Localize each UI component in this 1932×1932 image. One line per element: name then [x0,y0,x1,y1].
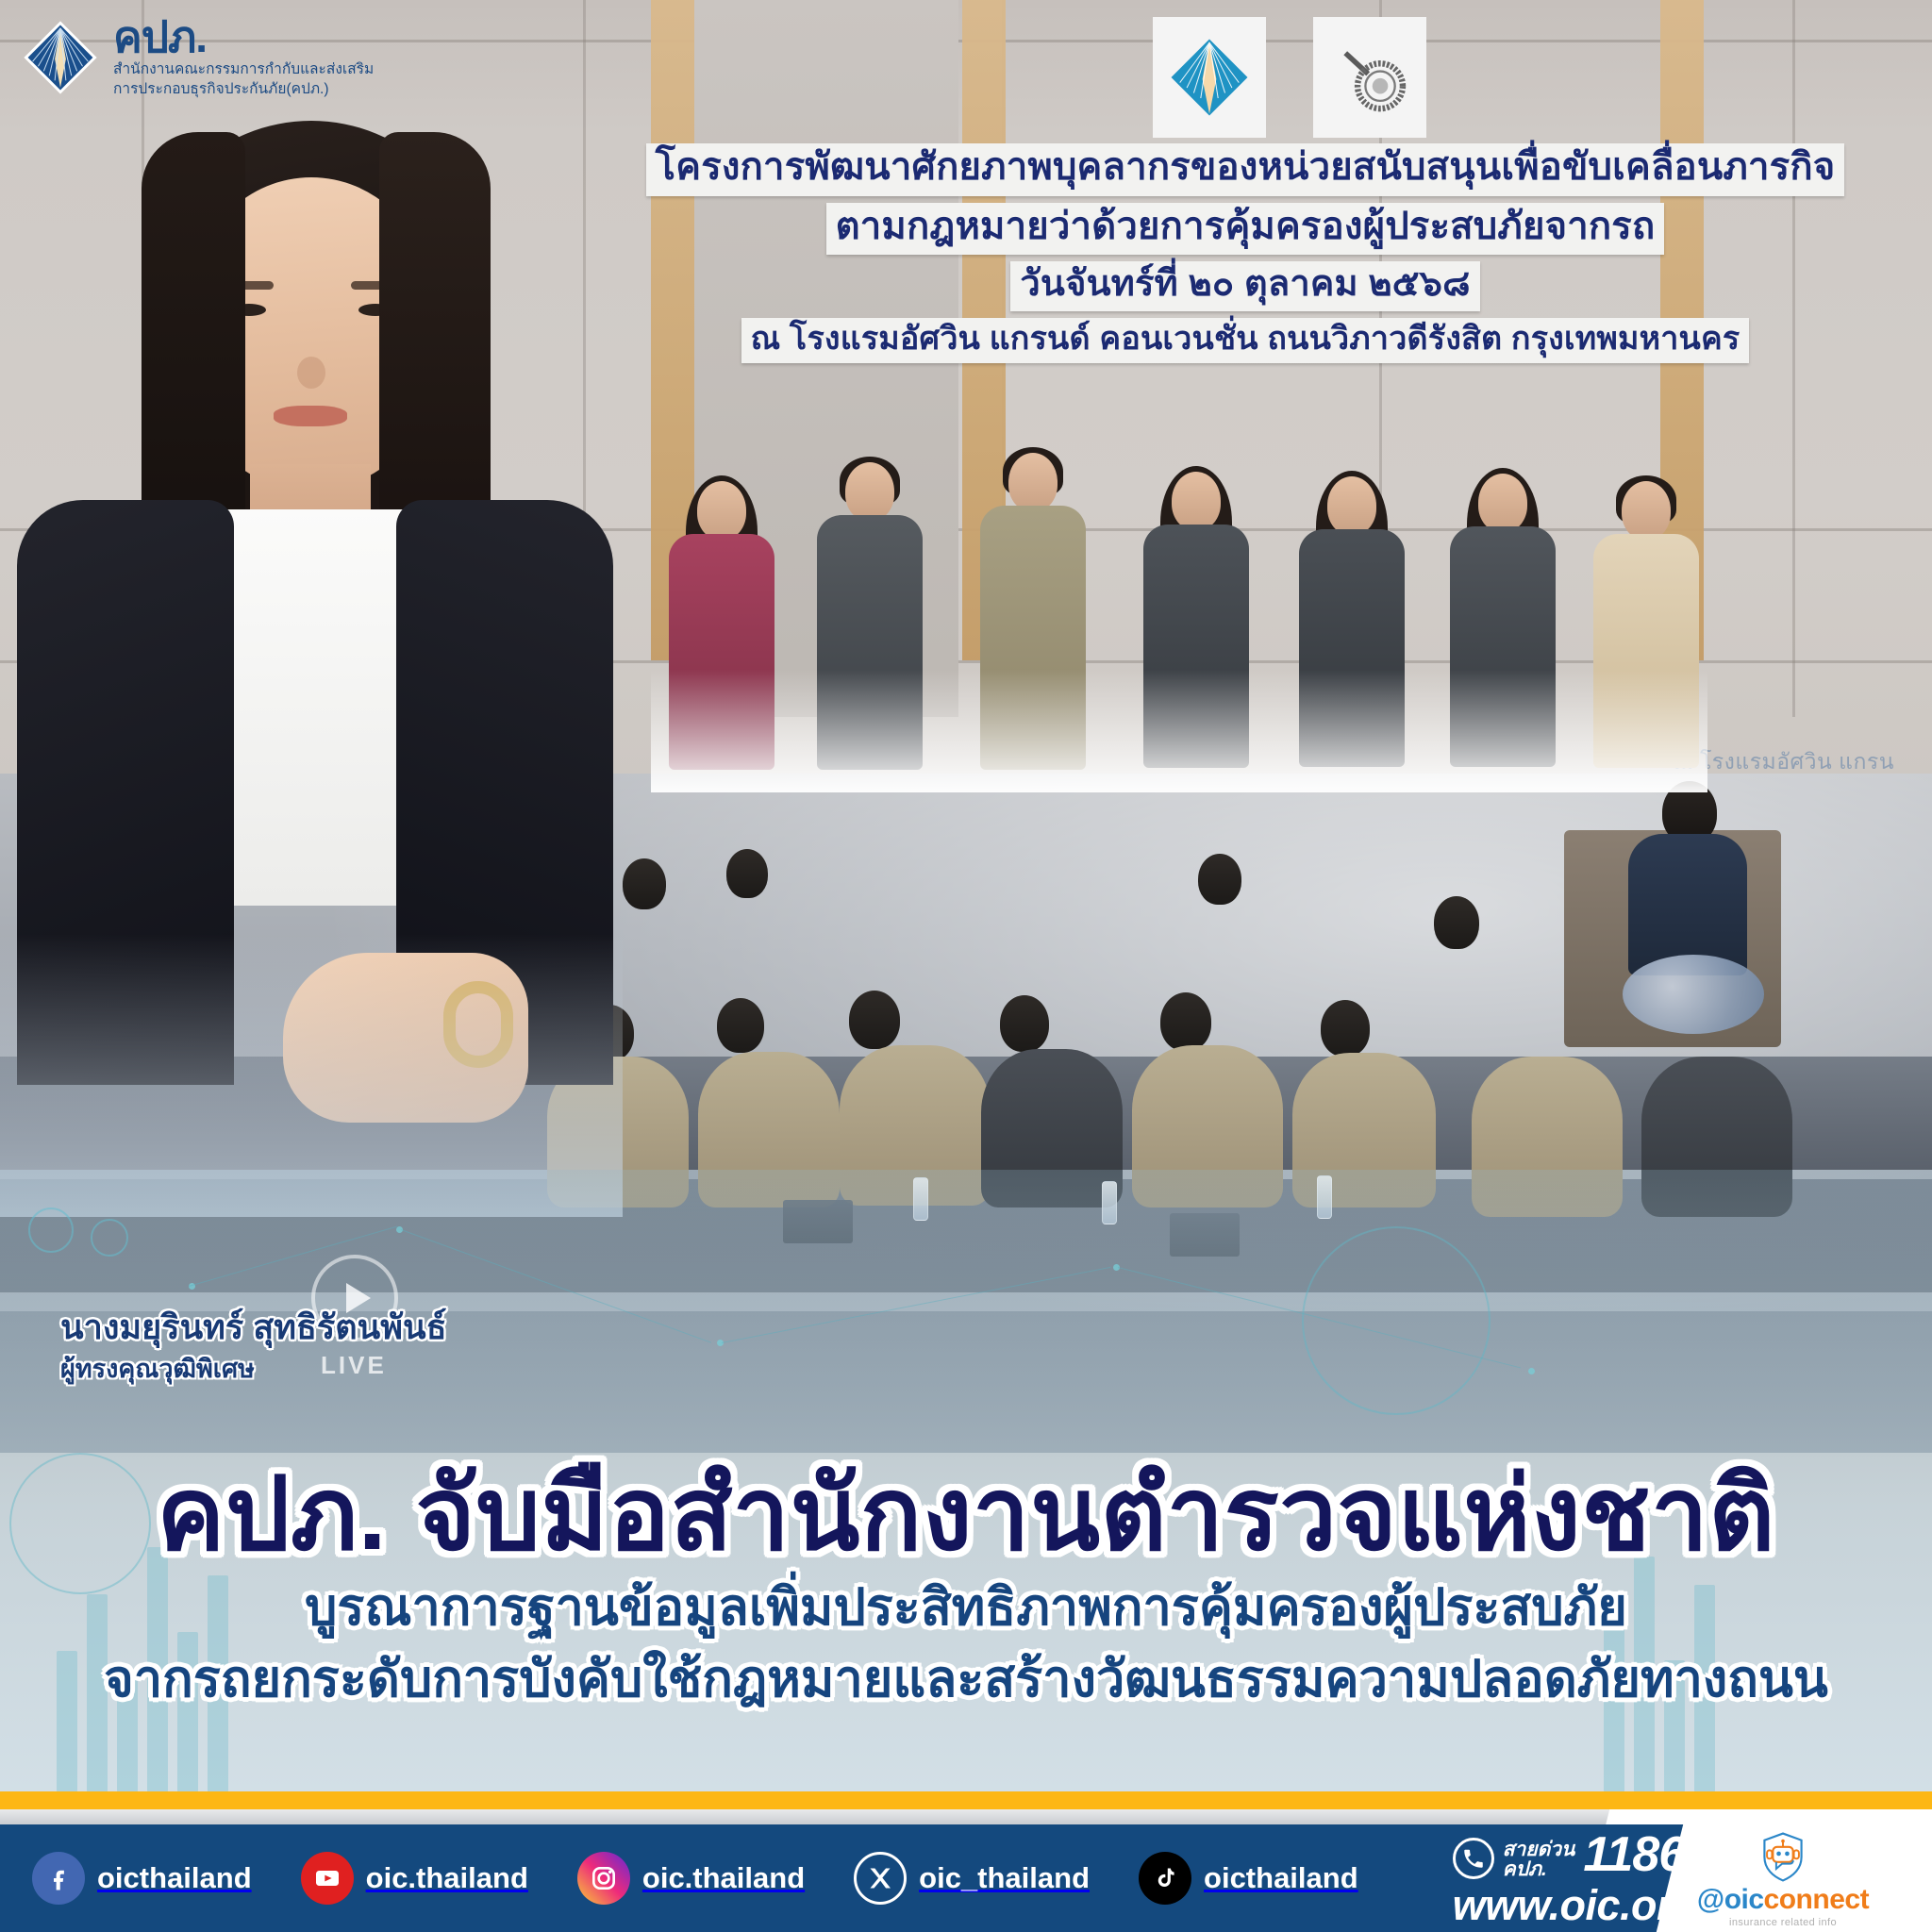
youtube-icon [301,1852,354,1905]
network-node-icon [28,1207,74,1253]
portrait-mouth [274,406,347,426]
brand-acronym: คปภ. [113,17,374,58]
speaker-role: ผู้ทรงคุณวุฒิพิเศษ [60,1348,447,1389]
backdrop-title-line2: ตามกฎหมายว่าด้วยการคุ้มครองผู้ประสบภัยจา… [826,203,1665,256]
instagram-icon [577,1852,630,1905]
audience-head [1160,992,1211,1051]
social-handle-instagram: oic.thailand [642,1861,805,1895]
oicconnect-oic: oic [1724,1884,1764,1915]
police-crest-icon [1326,34,1413,121]
person-face [1008,453,1058,511]
backdrop-title-block: โครงการพัฒนาศักยภาพบุคลากรของหน่วยสนับสน… [566,143,1924,370]
backdrop-venue: ณ โรงแรมอัศวิน แกรนด์ คอนเวนชั่น ถนนวิภา… [741,318,1750,363]
phone-icon [1453,1838,1494,1879]
oicconnect-name: @oicconnect [1697,1884,1869,1916]
headline-block: คปภ. จับมือสำนักงานตำรวจแห่งชาติ บูรณากา… [0,1460,1932,1711]
oic-brand-logo: คปภ. สำนักงานคณะกรรมการกำกับและส่งเสริม … [21,17,374,98]
oic-emblem [1153,17,1266,138]
backdrop-logo-row [1153,17,1426,138]
footer-bar: oicthailand oic.thailand oic.thailand oi… [0,1824,1604,1932]
speaker-portrait [0,104,604,1217]
social-link-tiktok[interactable]: oicthailand [1139,1852,1358,1905]
social-handle-x: oic_thailand [919,1861,1090,1895]
photo-fade [651,670,1707,792]
facebook-icon [32,1852,85,1905]
hotline-word: สายด่วน [1503,1840,1575,1859]
backdrop-title-line1: โครงการพัฒนาศักยภาพบุคลากรของหน่วยสนับสน… [646,143,1845,196]
audience-head [849,991,900,1049]
person-face [697,481,746,540]
hotline-labels: สายด่วน คปภ. [1503,1840,1575,1879]
oic-diamond-bridge-logo [21,18,100,97]
network-node-icon [91,1219,128,1257]
x-twitter-icon [854,1852,907,1905]
audience-head [1198,854,1241,905]
tech-link [401,1229,711,1343]
audience-head [623,858,666,909]
speaker-name: นางมยุรินทร์ สุทธิรัตนพันธ์ [60,1307,447,1346]
person-face [1622,481,1671,540]
brand-subtitle-1: สำนักงานคณะกรรมการกำกับและส่งเสริม [113,61,374,78]
audience-head [1321,1000,1370,1057]
headline-main: คปภ. จับมือสำนักงานตำรวจแห่งชาติ [0,1460,1932,1568]
brand-subtitle-2: การประกอบธุรกิจประกันภัย(คปภ.) [113,81,374,98]
social-handle-facebook: oicthailand [97,1861,252,1895]
hotline-number: 1186 [1583,1830,1685,1879]
social-handle-youtube: oic.thailand [366,1861,528,1895]
person-face [845,462,894,521]
tiktok-icon [1139,1852,1191,1905]
diamond-bridge-icon [21,18,100,97]
social-link-x[interactable]: oic_thailand [854,1852,1090,1905]
brand-text-block: คปภ. สำนักงานคณะกรรมการกำกับและส่งเสริม … [113,17,374,98]
audience-head [726,849,768,898]
tech-link [722,1267,1110,1343]
chatbot-shield-icon [1754,1830,1812,1884]
portrait-nose [297,357,325,389]
person-face [1172,472,1221,530]
oicconnect-connect: connect [1764,1884,1870,1915]
gold-divider-bar [0,1791,1932,1809]
podium-flowers [1623,955,1764,1034]
audience-head [717,998,764,1053]
tech-node [1528,1368,1535,1374]
backdrop-date: วันจันทร์ที่ ๒๐ ตุลาคม ๒๕๖๘ [1010,261,1479,311]
diamond-bridge-icon [1166,34,1253,121]
social-link-facebook[interactable]: oicthailand [32,1852,252,1905]
speaker-name-block: นางมยุรินทร์ สุทธิรัตนพันธ์ ผู้ทรงคุณวุฒ… [60,1307,447,1389]
royal-thai-police-emblem [1313,17,1426,138]
audience-head [1434,896,1479,949]
social-handle-tiktok: oicthailand [1204,1861,1358,1895]
group-photo [651,396,1707,792]
at-symbol: @ [1697,1884,1724,1915]
oicconnect-tagline: insurance related info [1729,1917,1837,1928]
headline-sub-line2: จากรถยกระดับการบังคับใช้กฎหมายและสร้างวั… [0,1649,1932,1711]
social-link-instagram[interactable]: oic.thailand [577,1852,805,1905]
person-face [1478,474,1527,532]
audience-head [1000,995,1049,1052]
poster-canvas: ณ โรงแรมอัศวิน แกรน [0,0,1932,1932]
person-face [1327,476,1376,535]
oicconnect-badge[interactable]: @oicconnect insurance related info [1679,1830,1887,1928]
headline-sub-line1: บูรณาการฐานข้อมูลเพิ่มประสิทธิภาพการคุ้ม… [0,1577,1932,1640]
social-link-youtube[interactable]: oic.thailand [301,1852,528,1905]
hotline-org: คปภ. [1503,1859,1575,1879]
